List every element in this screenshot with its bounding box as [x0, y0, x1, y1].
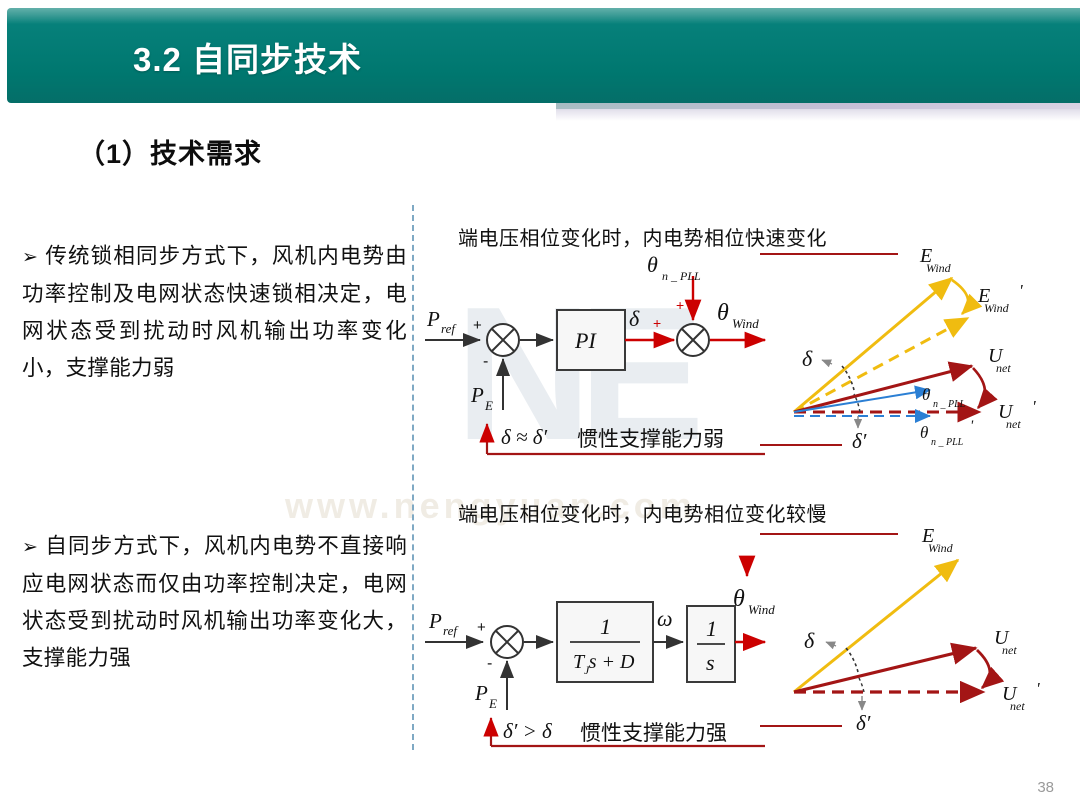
- section-subtitle: （1）技术需求: [78, 132, 262, 171]
- tf2-numerator: 1: [706, 616, 717, 641]
- label-omega: ω: [657, 606, 673, 631]
- svg-text:Wind: Wind: [732, 316, 759, 331]
- sign-minus-2: -: [487, 655, 492, 672]
- panel-2-block-diagram: P ref + - P E 1 T s + D J ω 1 s θ Wind δ…: [425, 560, 765, 750]
- bullet-marker-2: ➢: [22, 537, 38, 558]
- column-divider: [412, 205, 414, 750]
- svg-text:Wind: Wind: [926, 261, 952, 275]
- sign-plus-1: +: [473, 317, 482, 334]
- label-theta-wind-2: θ: [733, 586, 745, 612]
- svg-text:net: net: [1006, 417, 1021, 431]
- label-delta-prime-1: δ′: [852, 429, 867, 453]
- svg-text:n _ PLL: n _ PLL: [933, 399, 966, 410]
- svg-text:E: E: [484, 398, 493, 413]
- label-theta-pll-input: θ: [647, 252, 658, 277]
- svg-text:': ': [970, 418, 974, 434]
- svg-text:J: J: [584, 663, 590, 677]
- svg-text:n _ PLL: n _ PLL: [931, 437, 964, 448]
- svg-text:net: net: [996, 361, 1011, 375]
- svg-text:Wind: Wind: [748, 602, 775, 617]
- note-relation-1: δ ≈ δ′: [501, 425, 548, 449]
- bullet-paragraph-1: ➢ 传统锁相同步方式下，风机内电势由功率控制及电网状态快速锁相决定，电网状态受到…: [22, 238, 407, 387]
- svg-text:ref: ref: [443, 623, 459, 638]
- label-p-ref-2: P: [428, 609, 442, 633]
- svg-text:': ': [1032, 397, 1036, 416]
- svg-text:Wind: Wind: [984, 301, 1010, 315]
- header-under-band-accent: [556, 103, 1080, 109]
- label-theta-pll-1: θ: [922, 385, 930, 404]
- sign-plus-4: +: [477, 619, 486, 636]
- bullet-marker-1: ➢: [22, 247, 38, 268]
- label-p-ref: P: [426, 307, 440, 331]
- svg-text:n _ PLL: n _ PLL: [662, 269, 701, 283]
- note-relation-2: δ′ > δ: [503, 719, 553, 743]
- sign-plus-2: +: [653, 315, 661, 331]
- panel-2-phasor-diagram: E⃗ Wind U⃗ net U⃗ net ' δ δ′: [780, 520, 1080, 740]
- bullet-text-2: 自同步方式下，风机内电势不直接响应电网状态而仅由功率控制决定，电网状态受到扰动时…: [22, 534, 407, 670]
- label-delta-2: δ: [804, 628, 815, 653]
- sign-minus-1: -: [483, 353, 488, 370]
- label-delta-1p: δ: [802, 346, 813, 371]
- label-theta-wind-1: θ: [717, 300, 729, 326]
- pi-block-label: PI: [574, 328, 597, 353]
- panel-1-phasor-diagram: E⃗ Wind E⃗ Wind ' U⃗ net U⃗ net ' θ n _ …: [780, 240, 1080, 460]
- svg-text:net: net: [1002, 643, 1017, 657]
- svg-text:': ': [1019, 281, 1023, 300]
- bullet-text-1: 传统锁相同步方式下，风机内电势由功率控制及电网状态快速锁相决定，电网状态受到扰动…: [22, 244, 407, 380]
- label-p-e-2: P: [474, 681, 488, 705]
- page-title: 3.2 自同步技术: [133, 33, 362, 81]
- note-text-2: 惯性支撑能力强: [580, 722, 727, 745]
- svg-text:net: net: [1010, 699, 1025, 713]
- tf1-numerator: 1: [600, 614, 611, 639]
- tf1-denominator: T s + D: [573, 651, 635, 673]
- sign-plus-3: +: [676, 297, 684, 313]
- bullet-paragraph-2: ➢ 自同步方式下，风机内电势不直接响应电网状态而仅由功率控制决定，电网状态受到扰…: [22, 528, 407, 677]
- panel-2-caption: 端电压相位变化时，内电势相位变化较慢: [458, 498, 827, 527]
- svg-text:': ': [1036, 679, 1040, 698]
- label-delta-1: δ: [629, 306, 640, 331]
- page-number: 38: [1037, 779, 1054, 796]
- panel-1-block-diagram: P ref + - P E PI δ + θ n _ PLL + θ Wind …: [425, 258, 765, 458]
- panel-1-caption: 端电压相位变化时，内电势相位快速变化: [458, 222, 827, 251]
- svg-text:Wind: Wind: [928, 541, 954, 555]
- svg-text:E: E: [488, 696, 497, 711]
- svg-text:ref: ref: [441, 321, 457, 336]
- label-theta-pll-prime-1: θ: [920, 423, 928, 442]
- note-text-1: 惯性支撑能力弱: [577, 428, 724, 451]
- label-delta-prime-2: δ′: [856, 711, 871, 735]
- tf2-denominator: s: [706, 650, 715, 675]
- label-p-e: P: [470, 383, 484, 407]
